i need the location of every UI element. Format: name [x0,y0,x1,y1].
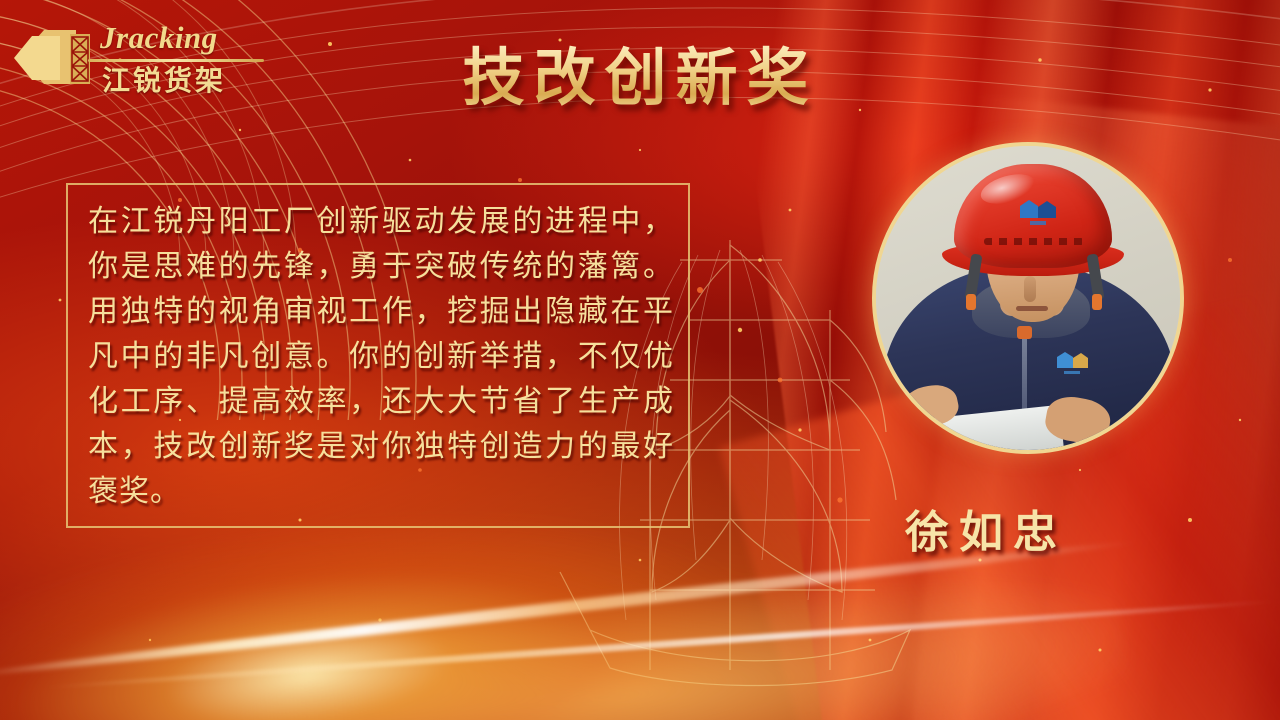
portrait-helmet-vents [984,238,1084,245]
portrait-zip-pull [1017,326,1032,339]
honoree-name: 徐如忠 [905,505,1165,561]
portrait-strap-clip-right [1092,294,1102,310]
citation-panel: 在江锐丹阳工厂创新驱动发展的进程中，你是思难的先锋，勇于突破传统的藩篱。用独特的… [66,183,690,528]
portrait-mouth [1016,306,1048,311]
jracking-helmet-logo-icon [1016,198,1058,228]
page-title: 技改创新奖 [0,42,1280,114]
avatar [872,142,1184,454]
jracking-jacket-logo-icon [1054,350,1090,376]
citation-text: 在江锐丹阳工厂创新驱动发展的进程中，你是思难的先锋，勇于突破传统的藩篱。用独特的… [88,199,674,514]
portrait-nose [1024,276,1036,302]
portrait-strap-clip-left [966,294,976,310]
award-certificate-slide: Jracking 江锐货架 技改创新奖 在江锐丹阳工厂创新驱动发展的进程中，你是… [0,0,1280,720]
